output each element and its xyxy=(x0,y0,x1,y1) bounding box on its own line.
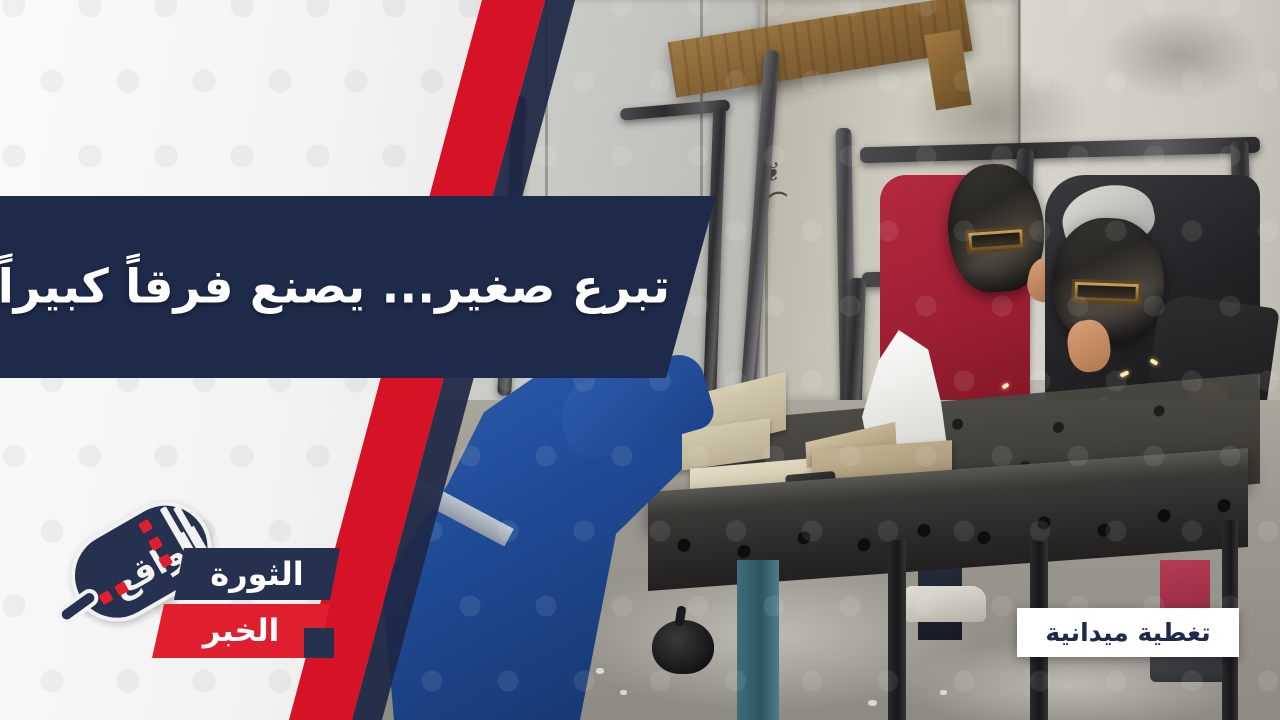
floor-debris xyxy=(940,690,947,695)
background-person-shoe xyxy=(904,586,986,622)
broadcast-frame: ❦ ⌒ xyxy=(0,0,1280,720)
headline-text: تبرع صغير... يصنع فرقاً كبيراً xyxy=(0,260,670,315)
welding-table-leg xyxy=(737,560,779,720)
helmet-visor xyxy=(965,226,1026,254)
headline-bar: تبرع صغير... يصنع فرقاً كبيراً xyxy=(0,196,716,378)
floor-debris xyxy=(620,690,627,695)
logo-accent-square xyxy=(304,628,334,658)
floor-debris xyxy=(868,700,877,706)
coverage-badge: تغطية ميدانية xyxy=(1017,608,1239,657)
coverage-badge-label: تغطية ميدانية xyxy=(1045,618,1210,647)
wall-smudge xyxy=(1100,10,1260,100)
logo-brand-top-label: الثورة xyxy=(174,548,340,600)
channel-logo[interactable]: الواقع الثورة الخبر xyxy=(56,500,340,670)
floor-debris xyxy=(596,668,604,674)
wall-seam xyxy=(700,0,703,200)
black-waste-bag xyxy=(652,620,714,674)
helmet-visor xyxy=(1071,279,1141,305)
welding-table-leg xyxy=(888,540,906,720)
welding-helmet xyxy=(1050,216,1166,344)
logo-brand-top: الثورة xyxy=(174,548,340,600)
